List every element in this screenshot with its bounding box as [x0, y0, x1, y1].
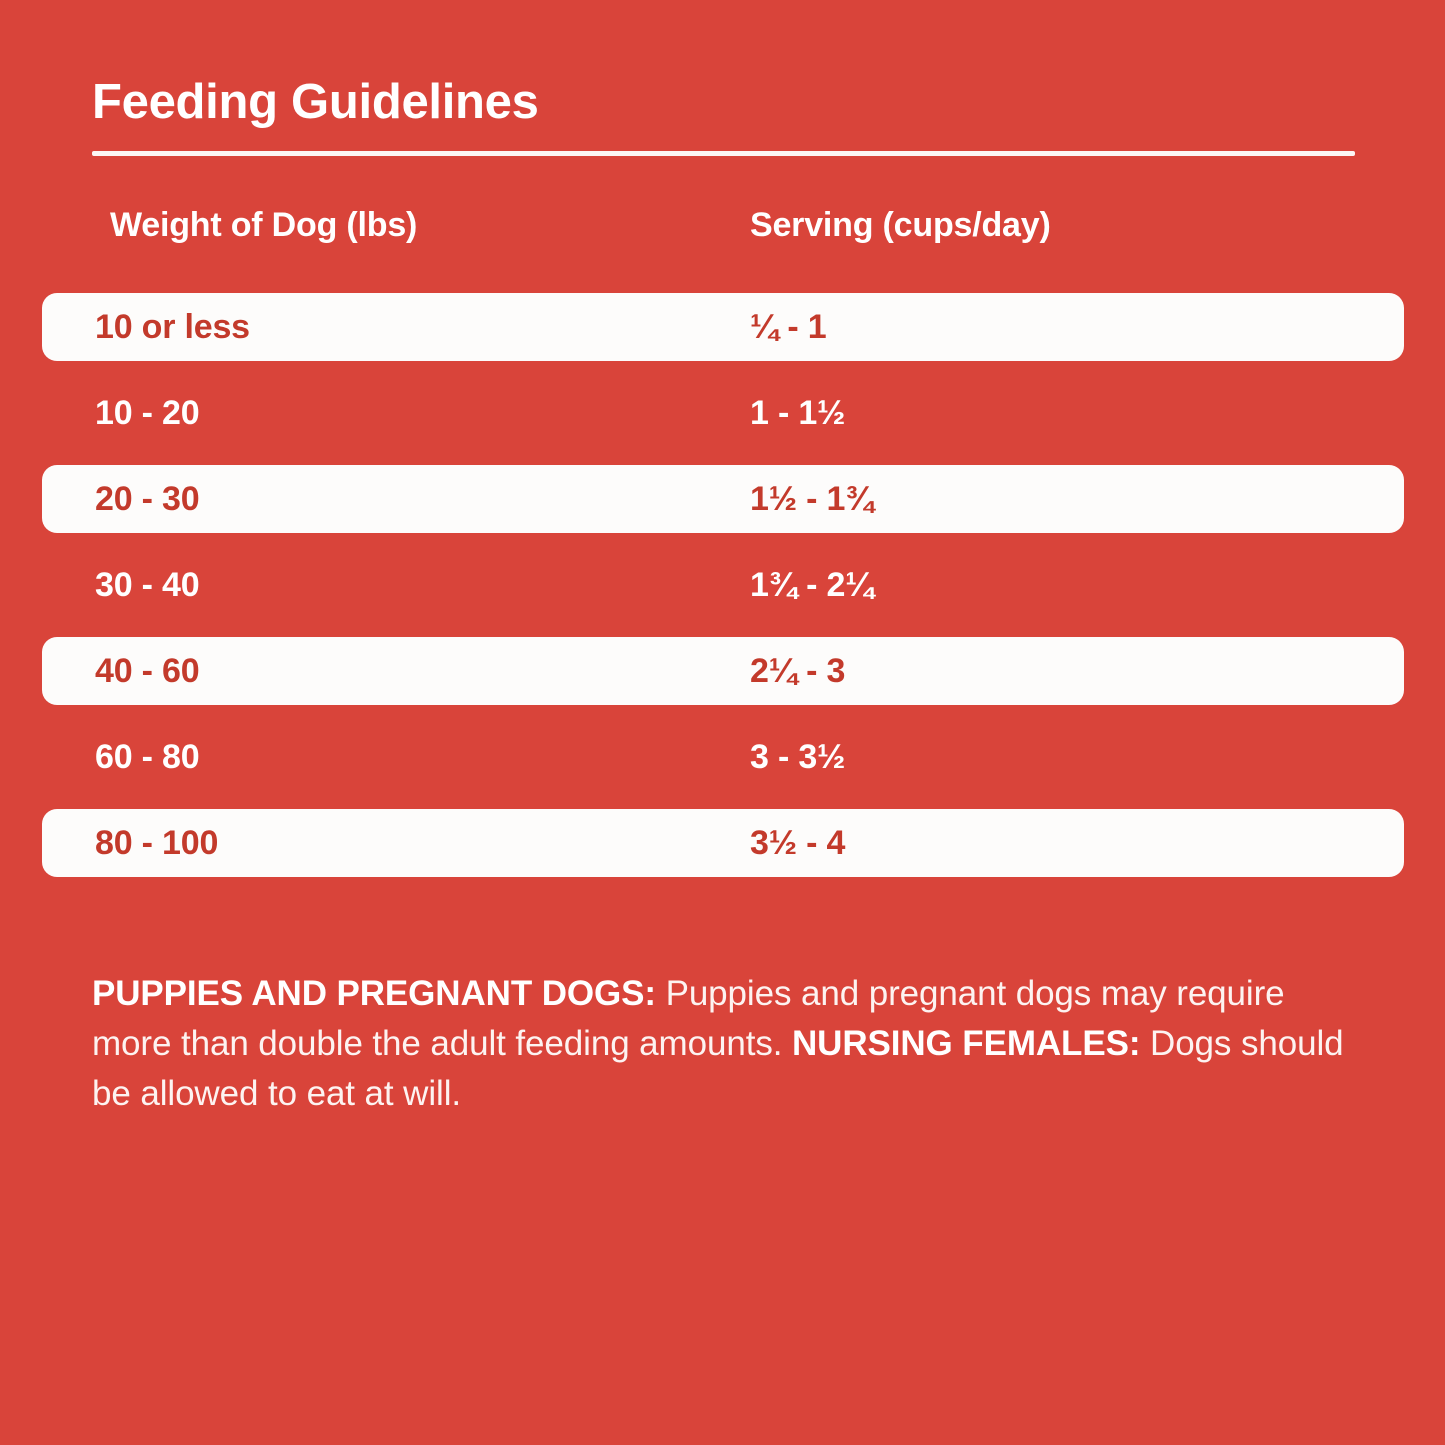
table-row: 40 - 602¼ - 3 — [42, 637, 1404, 705]
page-title: Feeding Guidelines — [92, 78, 1357, 127]
table-row: 10 or less¼ - 1 — [42, 293, 1404, 361]
column-header-weight: Weight of Dog (lbs) — [110, 206, 417, 245]
table-row: 80 - 1003½ - 4 — [42, 809, 1404, 877]
cell-weight: 40 - 60 — [95, 652, 199, 691]
cell-serving: 3 - 3½ — [750, 738, 845, 777]
cell-serving: 2¼ - 3 — [750, 652, 845, 691]
cell-weight: 60 - 80 — [95, 738, 199, 777]
cell-weight: 10 or less — [95, 308, 250, 347]
table-row: 60 - 803 - 3½ — [42, 723, 1404, 791]
title-block: Feeding Guidelines — [92, 78, 1357, 156]
note-lead-puppies: PUPPIES AND PREGNANT DOGS: — [92, 974, 656, 1013]
cell-serving: 1½ - 1¾ — [750, 480, 873, 519]
feeding-table: Weight of Dog (lbs) Serving (cups/day) 1… — [0, 206, 1445, 895]
note-lead-nursing: NURSING FEMALES: — [792, 1024, 1140, 1063]
cell-weight: 20 - 30 — [95, 480, 199, 519]
column-header-serving: Serving (cups/day) — [750, 206, 1051, 245]
cell-serving: ¼ - 1 — [750, 308, 826, 347]
title-divider — [92, 151, 1355, 156]
cell-weight: 10 - 20 — [95, 394, 199, 433]
feeding-guidelines-panel: Feeding Guidelines Weight of Dog (lbs) S… — [0, 0, 1445, 1445]
cell-weight: 30 - 40 — [95, 566, 199, 605]
table-row: 20 - 301½ - 1¾ — [42, 465, 1404, 533]
feeding-note: PUPPIES AND PREGNANT DOGS: Puppies and p… — [92, 969, 1367, 1119]
cell-serving: 3½ - 4 — [750, 824, 845, 863]
cell-serving: 1 - 1½ — [750, 394, 845, 433]
table-column-headers: Weight of Dog (lbs) Serving (cups/day) — [0, 206, 1445, 268]
cell-weight: 80 - 100 — [95, 824, 218, 863]
table-body: 10 or less¼ - 110 - 201 - 1½20 - 301½ - … — [0, 293, 1445, 877]
table-row: 30 - 401¾ - 2¼ — [42, 551, 1404, 619]
table-row: 10 - 201 - 1½ — [42, 379, 1404, 447]
cell-serving: 1¾ - 2¼ — [750, 566, 873, 605]
